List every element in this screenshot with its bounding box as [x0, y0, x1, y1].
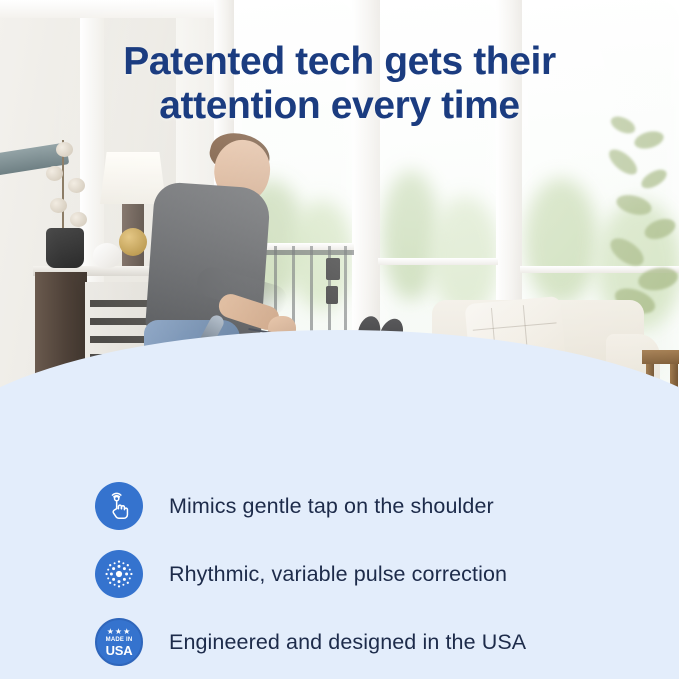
- decor-planter: [46, 228, 84, 268]
- made-in-usa-icon: ★★★ MADE IN USA: [95, 618, 143, 666]
- feature-label: Rhythmic, variable pulse correction: [169, 562, 507, 587]
- cotton-boll: [56, 142, 73, 157]
- hanging-plant: [600, 110, 679, 320]
- usa-badge: ★★★ MADE IN USA: [95, 618, 143, 666]
- feature-label: Mimics gentle tap on the shoulder: [169, 494, 494, 519]
- pulse-burst-icon: [95, 550, 143, 598]
- cotton-boll: [50, 198, 67, 213]
- table-lamp-accent: [119, 228, 147, 256]
- usa-made-in-text: MADE IN: [106, 637, 133, 643]
- product-feature-card: Patented tech gets their attention every…: [0, 0, 679, 679]
- usa-text: USA: [106, 644, 133, 657]
- feature-row: Mimics gentle tap on the shoulder: [95, 472, 635, 540]
- page-title: Patented tech gets their attention every…: [0, 40, 679, 127]
- cotton-boll: [70, 212, 87, 227]
- usa-stars: ★★★: [107, 628, 132, 636]
- door-handle-lower: [326, 286, 338, 304]
- cotton-boll: [68, 178, 85, 193]
- hand-tap-icon: [95, 482, 143, 530]
- outdoor-foliage: [524, 178, 598, 304]
- cotton-boll: [46, 166, 63, 181]
- window-mullion: [378, 258, 498, 265]
- feature-label: Engineered and designed in the USA: [169, 630, 526, 655]
- feature-row: Rhythmic, variable pulse correction: [95, 540, 635, 608]
- door-handle: [326, 258, 340, 280]
- decor-vase: [93, 243, 121, 268]
- outdoor-foliage: [430, 196, 500, 316]
- feature-row: ★★★ MADE IN USA Engineered and designed …: [95, 608, 635, 676]
- side-table: [642, 350, 679, 364]
- feature-list: Mimics gentle tap on the shoulder: [95, 472, 635, 676]
